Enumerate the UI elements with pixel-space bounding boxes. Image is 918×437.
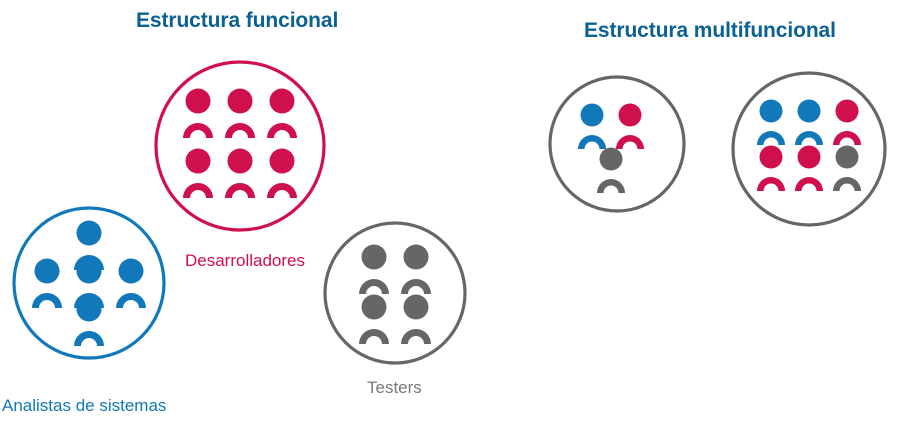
person-icon (225, 89, 255, 139)
person-icon (401, 295, 431, 345)
person-icon (116, 259, 146, 309)
testers-circle (321, 219, 469, 367)
person-icon (833, 100, 861, 146)
developers-circle (152, 58, 328, 234)
person-icon (359, 295, 389, 345)
person-icon (757, 146, 785, 192)
person-icon (757, 100, 785, 146)
testers-group (321, 219, 469, 367)
person-icon (401, 245, 431, 295)
label-desarrolladores: Desarrolladores (185, 251, 305, 271)
multifunctional-small-group (546, 73, 688, 215)
person-icon (359, 245, 389, 295)
label-testers: Testers (367, 378, 422, 398)
person-icon (795, 146, 823, 192)
heading-estructura-multifuncional: Estructura multifuncional (584, 19, 836, 43)
person-icon (183, 149, 213, 199)
person-icon (74, 297, 104, 347)
person-icon (616, 104, 644, 150)
diagram-canvas: Estructura funcional Estructura multifun… (0, 0, 918, 437)
heading-estructura-funcional: Estructura funcional (136, 9, 338, 33)
person-icon (597, 148, 625, 194)
person-icon (795, 100, 823, 146)
developers-group (152, 58, 328, 234)
multifunctional-large-group (729, 69, 889, 229)
person-icon (267, 89, 297, 139)
multifunctional-large-circle (729, 69, 889, 229)
ring-outline (156, 62, 324, 230)
person-icon (32, 259, 62, 309)
person-icon (833, 146, 861, 192)
person-icon (183, 89, 213, 139)
analysts-group (10, 204, 168, 362)
ring-outline (325, 223, 465, 363)
label-analistas-de-sistemas: Analistas de sistemas (2, 396, 166, 416)
analysts-circle (10, 204, 168, 362)
person-icon (578, 104, 606, 150)
person-icon (225, 149, 255, 199)
multifunctional-small-circle (546, 73, 688, 215)
person-icon (267, 149, 297, 199)
